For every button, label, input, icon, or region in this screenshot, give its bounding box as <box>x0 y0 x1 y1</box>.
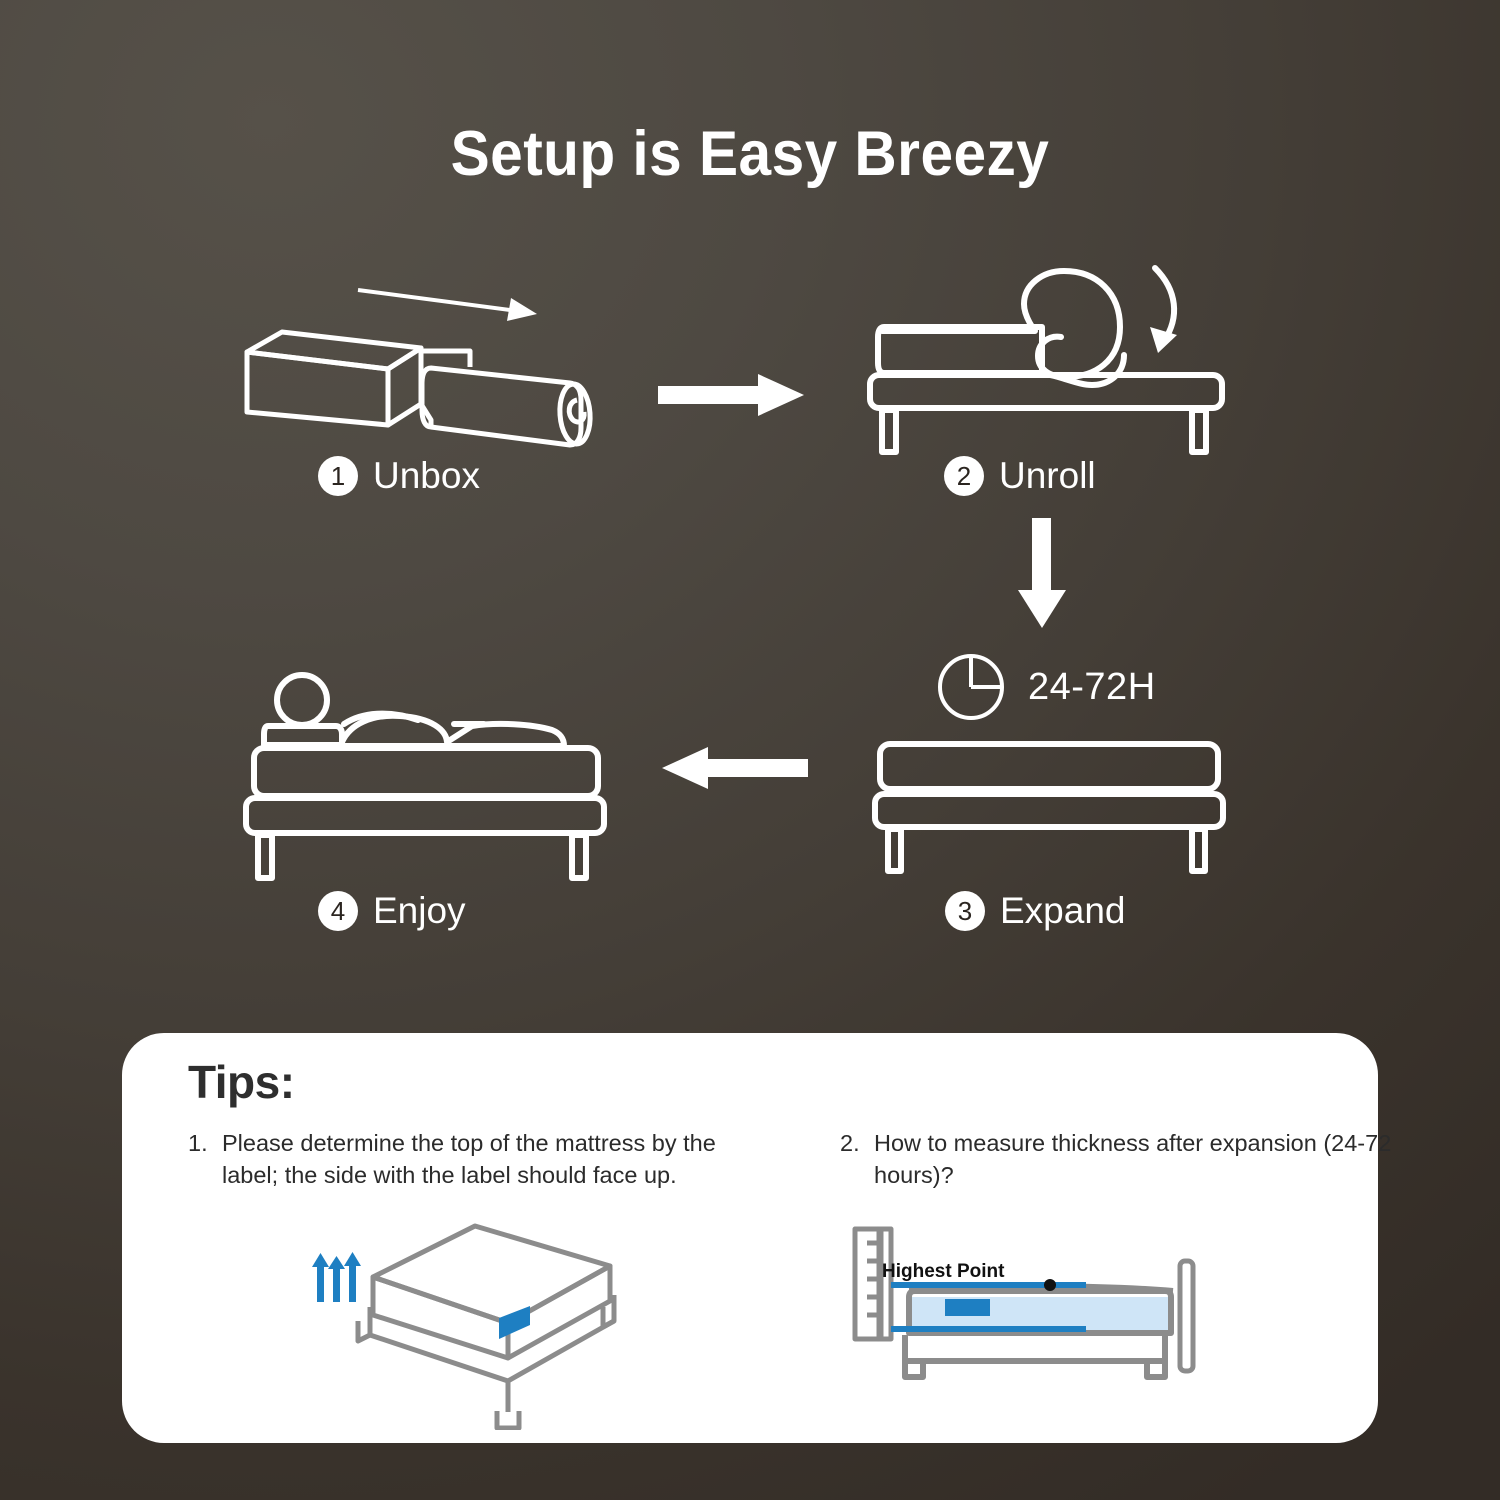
rotate-arrow-head-icon <box>1150 327 1177 353</box>
step-3-label: 3 Expand <box>945 890 1126 932</box>
infographic-page: Setup is Easy Breezy <box>0 0 1500 1500</box>
mattress-label-icon <box>945 1299 990 1316</box>
highest-point-marker <box>1044 1279 1056 1291</box>
step-3-badge: 3 <box>945 891 985 931</box>
step-3-text: Expand <box>1000 890 1126 932</box>
tip-1-illustration <box>292 1215 632 1435</box>
step-4-text: Enjoy <box>373 890 466 932</box>
tips-card: Tips: 1. Please determine the top of the… <box>122 1033 1378 1443</box>
step-4-badge: 4 <box>318 891 358 931</box>
mattress-icon <box>254 748 598 796</box>
bed-leg-right <box>572 835 586 878</box>
tip-item-1: 1. Please determine the top of the mattr… <box>188 1128 748 1192</box>
expanded-mattress-icon <box>875 744 1223 871</box>
bed-leg-left <box>888 829 901 871</box>
step-1-text: Unbox <box>373 455 480 497</box>
sleeper-head-icon <box>277 675 327 725</box>
rolled-mattress-icon <box>422 368 592 445</box>
slide-arrow-head-icon <box>507 298 537 321</box>
airflow-arrows-icon <box>312 1252 361 1302</box>
expansion-time-indicator: 24-72H <box>936 652 1156 722</box>
bed-leg-left <box>258 835 272 878</box>
clock-icon <box>936 652 1006 722</box>
expansion-time-text: 24-72H <box>1028 666 1156 709</box>
step-2-badge: 2 <box>944 456 984 496</box>
step-1-label: 1 Unbox <box>318 455 480 497</box>
step-2-text: Unroll <box>999 455 1096 497</box>
box-icon <box>247 332 421 425</box>
bed-leg-right <box>1192 829 1205 871</box>
highest-point-label: Highest Point <box>882 1261 1004 1283</box>
bed-frame-icon <box>905 1335 1165 1377</box>
step-4-label: 4 Enjoy <box>318 890 466 932</box>
tip-2-number: 2. <box>840 1128 860 1160</box>
box-flap-icon <box>421 351 470 427</box>
pillow-icon <box>264 726 342 745</box>
tip-2-text: How to measure thickness after expansion… <box>874 1128 1400 1192</box>
tip-item-2: 2. How to measure thickness after expans… <box>840 1128 1400 1192</box>
slide-direction-arrow-icon <box>358 290 510 310</box>
step-1-badge: 1 <box>318 456 358 496</box>
step-2-label: 2 Unroll <box>944 455 1096 497</box>
tip-2-illustration <box>847 1219 1247 1414</box>
arrow-down-icon <box>1010 518 1074 628</box>
tip-1-text: Please determine the top of the mattress… <box>222 1128 748 1192</box>
arrow-left-icon <box>662 745 808 791</box>
isometric-mattress-icon <box>373 1226 610 1358</box>
arrow-right-icon <box>658 372 804 418</box>
bed-base-icon <box>246 798 604 833</box>
bed-base-icon <box>870 375 1222 452</box>
mattress-label-icon <box>499 1306 530 1339</box>
page-title: Setup is Easy Breezy <box>53 118 1448 190</box>
tips-heading: Tips: <box>188 1055 295 1109</box>
sleeper-body-icon <box>342 716 564 746</box>
tip-1-number: 1. <box>188 1128 208 1160</box>
